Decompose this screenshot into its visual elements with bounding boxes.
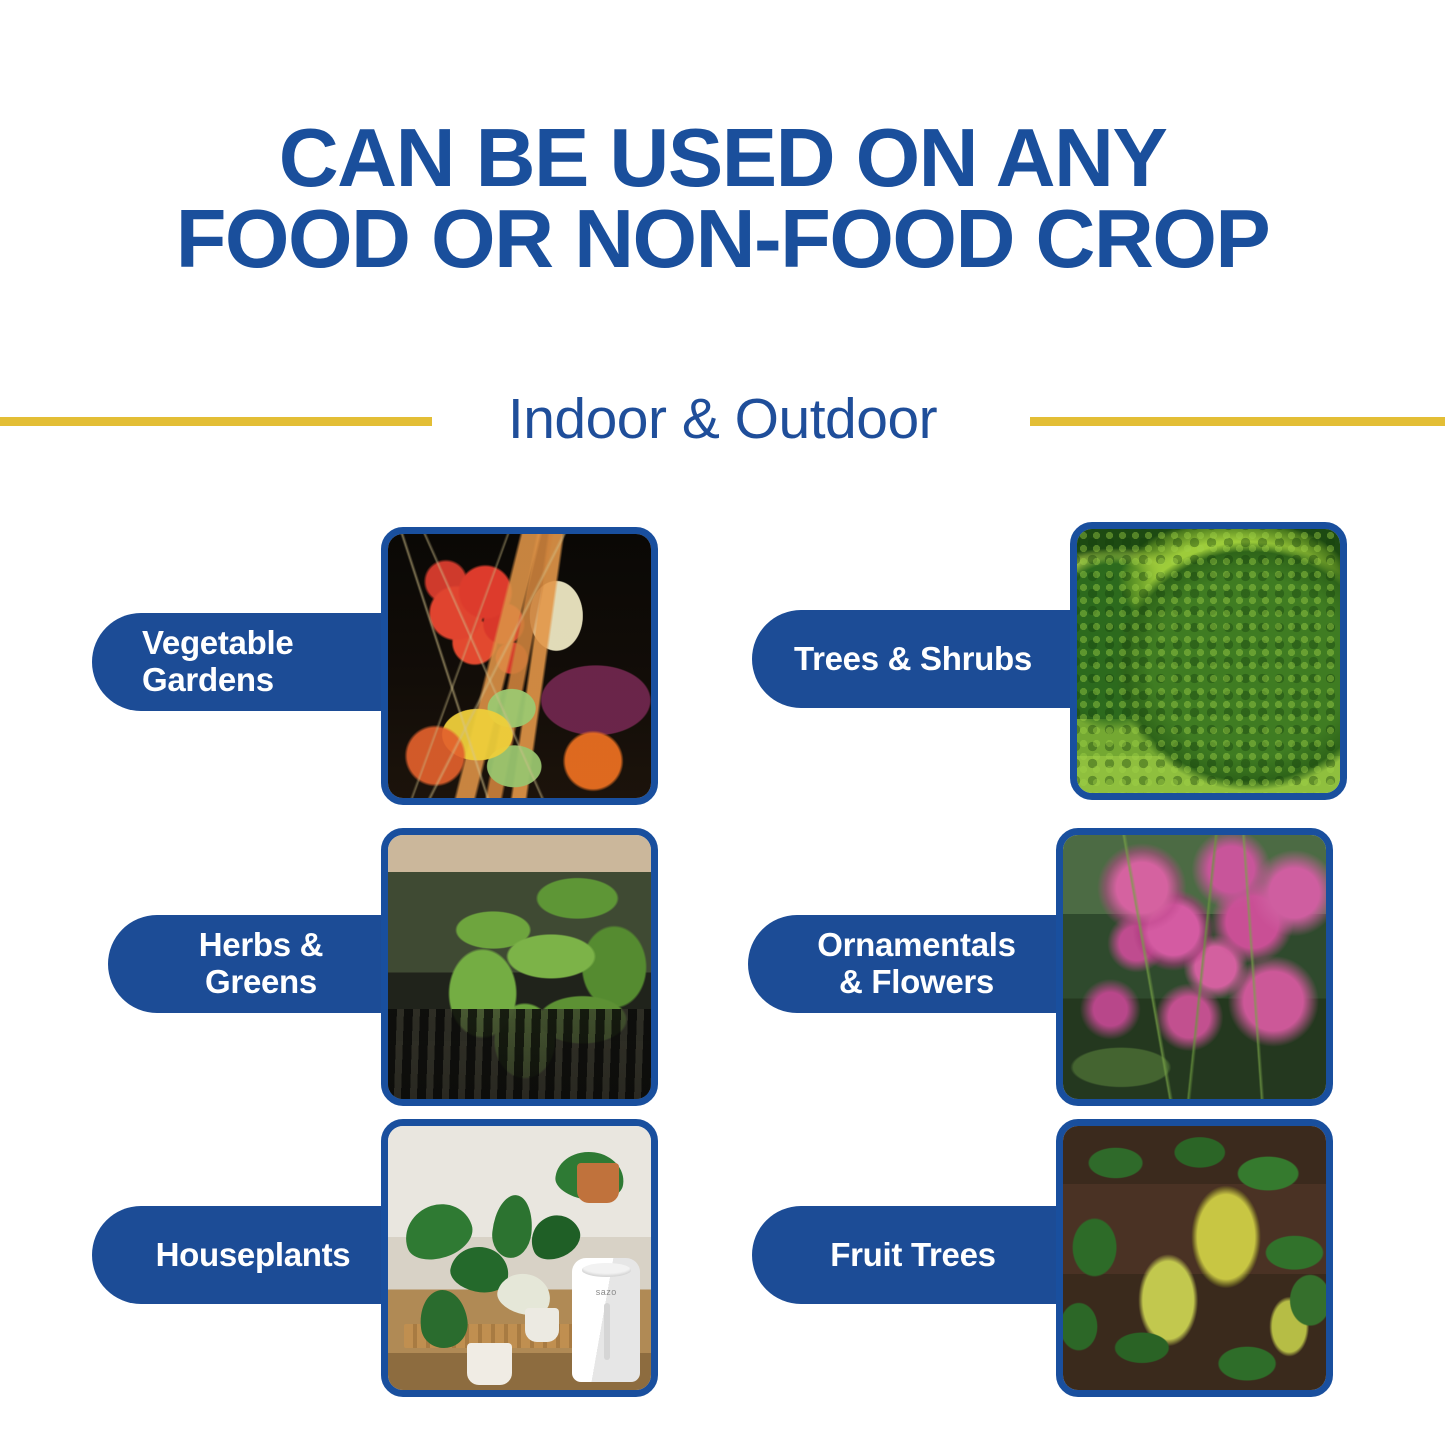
promo-poster: CAN BE USED ON ANY FOOD OR NON-FOOD CROP… xyxy=(0,0,1445,1445)
humidifier-brand-label: sazo xyxy=(572,1287,640,1297)
label-pill-vegetable-gardens: VegetableGardens xyxy=(92,613,422,711)
photo-card-trees-and-shrubs xyxy=(1070,522,1347,800)
label-text-herbs-and-greens: Herbs &Greens xyxy=(130,927,392,1001)
label-text-vegetable-gardens: VegetableGardens xyxy=(114,625,392,699)
label-pill-ornamentals-and-flowers: Ornamentals& Flowers xyxy=(748,915,1093,1013)
photo-card-herbs-and-greens xyxy=(381,828,658,1106)
herbs-and-greens-photo xyxy=(388,835,651,1099)
label-pill-fruit-trees: Fruit Trees xyxy=(752,1206,1082,1304)
humidifier-water-strip xyxy=(604,1303,610,1360)
plant-pot xyxy=(467,1343,512,1385)
leaf-icon xyxy=(524,1207,587,1266)
label-pill-trees-and-shrubs: Trees & Shrubs xyxy=(752,610,1082,708)
houseplants-photo: sazo xyxy=(388,1126,651,1390)
leaf-icon xyxy=(490,1193,536,1260)
label-pill-houseplants: Houseplants xyxy=(92,1206,422,1304)
label-text-houseplants: Houseplants xyxy=(114,1237,392,1274)
label-text-fruit-trees: Fruit Trees xyxy=(774,1237,1052,1274)
plant-pot xyxy=(577,1163,619,1203)
plant-pot xyxy=(525,1308,559,1342)
photo-card-ornamentals-and-flowers xyxy=(1056,828,1333,1106)
photo-card-houseplants: sazo xyxy=(381,1119,658,1397)
vegetable-gardens-photo xyxy=(388,534,651,798)
label-pill-herbs-and-greens: Herbs &Greens xyxy=(108,915,422,1013)
label-text-trees-and-shrubs: Trees & Shrubs xyxy=(774,641,1052,678)
photo-card-fruit-trees xyxy=(1056,1119,1333,1397)
crop-type-grid: VegetableGardens Trees & Shrubs Herbs &G… xyxy=(0,0,1445,1445)
humidifier-cap xyxy=(582,1263,631,1277)
trees-and-shrubs-photo xyxy=(1077,529,1340,793)
humidifier: sazo xyxy=(572,1258,640,1382)
label-text-ornamentals-and-flowers: Ornamentals& Flowers xyxy=(770,927,1063,1001)
photo-card-vegetable-gardens xyxy=(381,527,658,805)
fruit-trees-photo xyxy=(1063,1126,1326,1390)
ornamentals-and-flowers-photo xyxy=(1063,835,1326,1099)
